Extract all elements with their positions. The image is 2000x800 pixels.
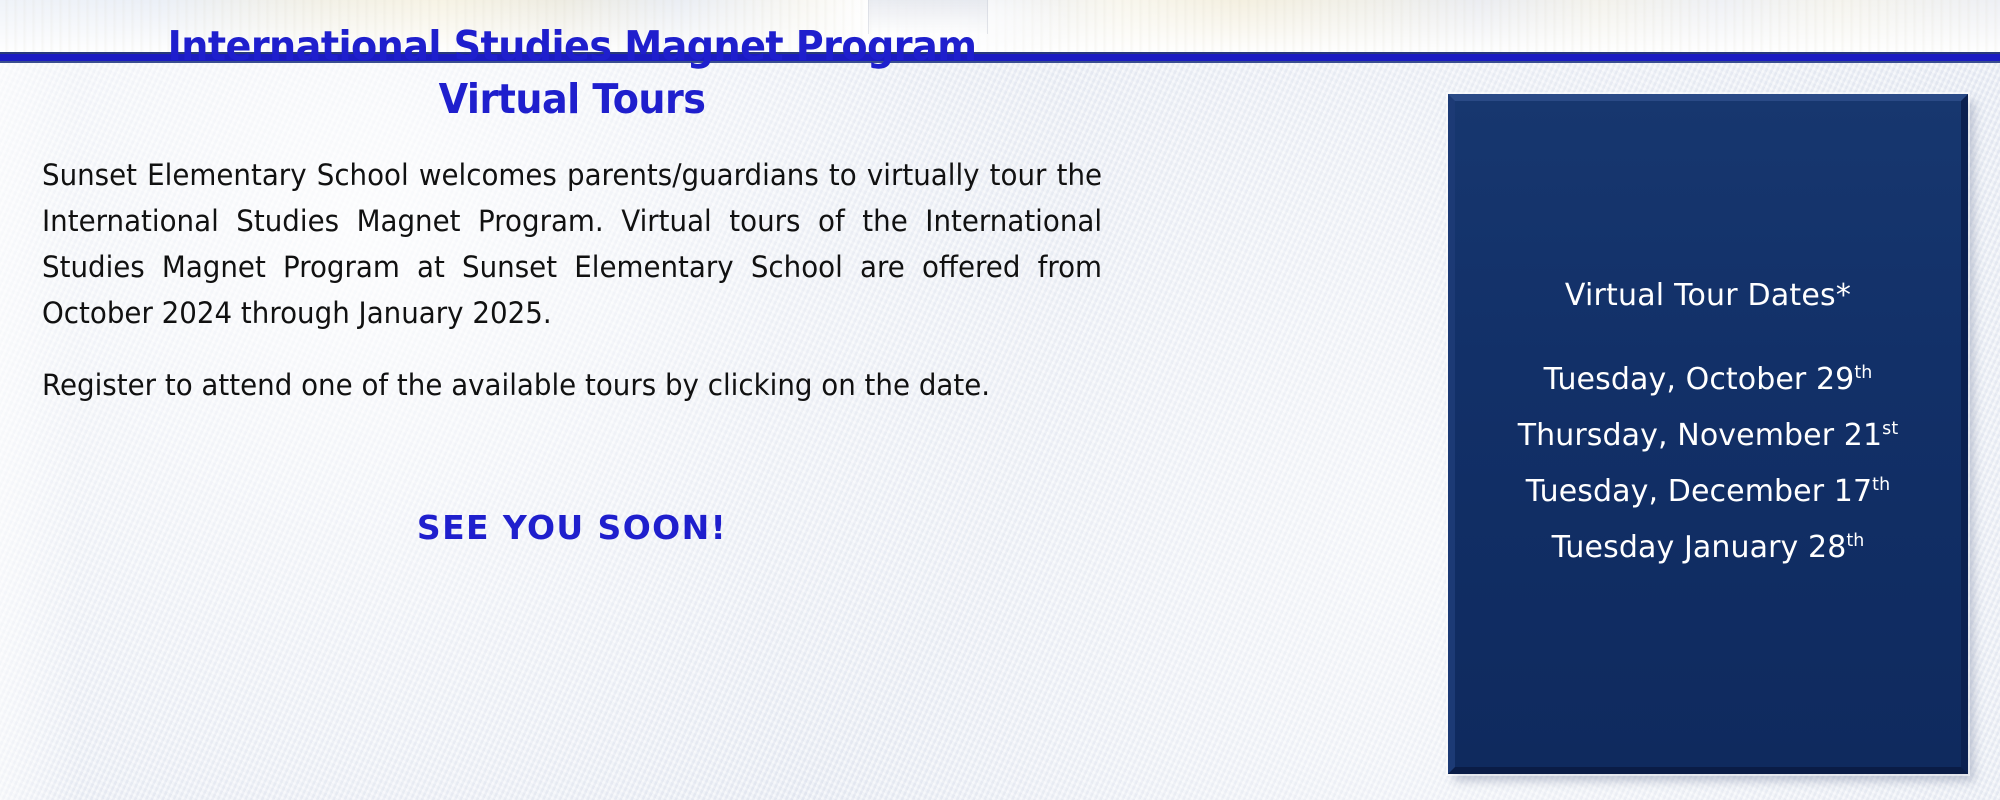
tour-date-item[interactable]: Tuesday, October 29th xyxy=(1473,361,1943,399)
tour-date-ordinal: th xyxy=(1854,363,1872,383)
dates-panel-box: Virtual Tour Dates* Tuesday, October 29t… xyxy=(1448,94,1968,774)
page-title-line-1: International Studies Magnet Program xyxy=(79,20,1065,73)
tour-date-label: Tuesday January 28 xyxy=(1552,530,1847,565)
register-paragraph: Register to attend one of the available … xyxy=(42,362,1102,408)
tour-date-ordinal: th xyxy=(1872,475,1890,495)
intro-paragraph: Sunset Elementary School welcomes parent… xyxy=(42,152,1102,336)
tour-date-ordinal: st xyxy=(1882,419,1898,439)
flyer-page: International Studies Magnet Program Vir… xyxy=(0,0,2000,800)
tour-date-ordinal: th xyxy=(1846,531,1864,551)
tour-date-label: Thursday, November 21 xyxy=(1518,418,1882,453)
tour-date-label: Tuesday, December 17 xyxy=(1526,474,1872,509)
tour-date-item[interactable]: Thursday, November 21st xyxy=(1473,417,1943,455)
tour-dates-list: Tuesday, October 29th Thursday, November… xyxy=(1473,361,1943,567)
closing-message: SEE YOU SOON! xyxy=(42,508,1102,547)
page-title: International Studies Magnet Program Vir… xyxy=(42,20,1102,126)
dates-panel-heading: Virtual Tour Dates* xyxy=(1473,277,1943,315)
tour-date-item[interactable]: Tuesday January 28th xyxy=(1473,529,1943,567)
main-content-column: International Studies Magnet Program Vir… xyxy=(42,20,1102,547)
tour-date-label: Tuesday, October 29 xyxy=(1544,362,1855,397)
page-title-line-2: Virtual Tours xyxy=(79,73,1065,126)
closing-message-text: SEE YOU SOON! xyxy=(417,508,727,547)
tour-date-item[interactable]: Tuesday, December 17th xyxy=(1473,473,1943,511)
virtual-tour-dates-panel: Virtual Tour Dates* Tuesday, October 29t… xyxy=(1448,94,1968,774)
